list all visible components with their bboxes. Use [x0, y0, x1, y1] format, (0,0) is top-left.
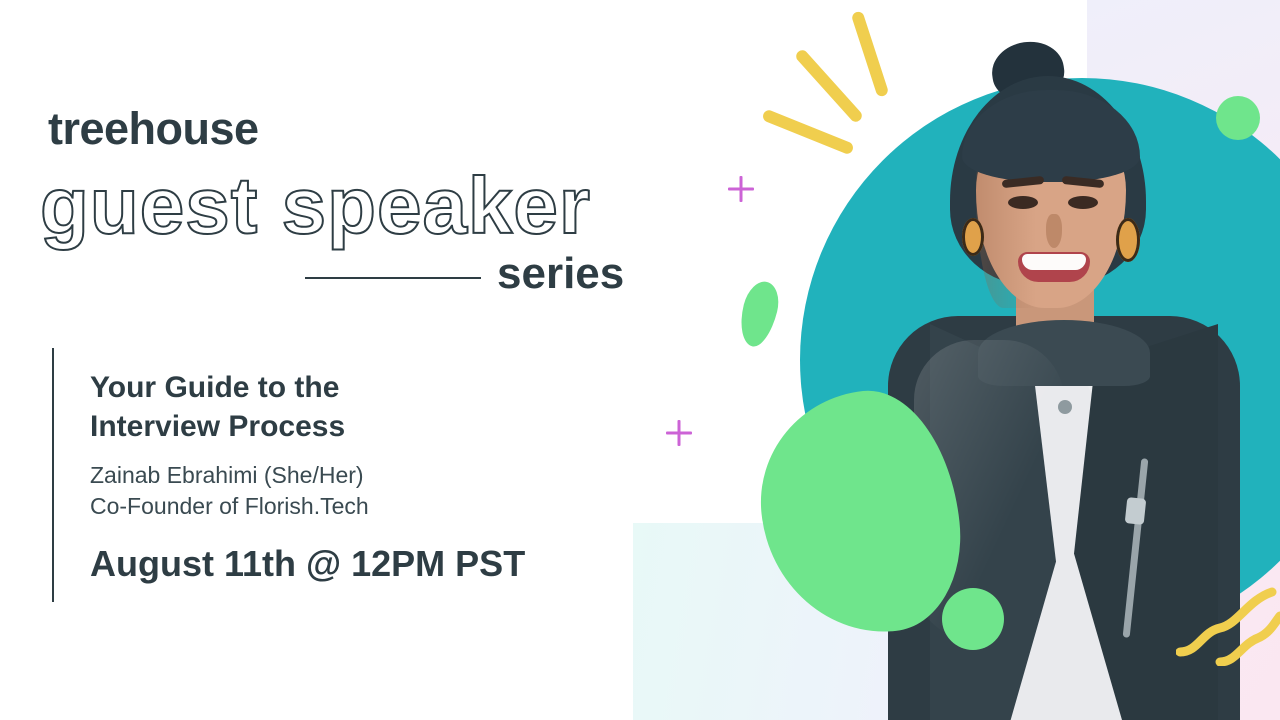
green-bean-blob-icon	[735, 278, 784, 350]
talk-title: Your Guide to the Interview Process	[90, 368, 610, 446]
earring-left	[962, 218, 984, 256]
earring-right	[1116, 218, 1140, 262]
series-divider-rule	[305, 277, 481, 279]
event-datetime: August 11th @ 12PM PST	[90, 544, 610, 584]
speaker-name: Zainab Ebrahimi (She/Her)	[90, 460, 610, 491]
plus-mark-top-icon	[728, 176, 754, 202]
speaker-role: Co-Founder of Florish.Tech	[90, 491, 610, 522]
detail-vertical-rule	[52, 348, 54, 602]
promo-slide: treehouse guest speaker series Your Guid…	[0, 0, 1280, 720]
eye-right	[1068, 196, 1098, 209]
series-word: series	[497, 252, 624, 296]
jacket-snap-button	[1058, 400, 1072, 414]
green-dot-bottom-icon	[942, 588, 1004, 650]
nose-shape	[1046, 214, 1062, 248]
teeth-shape	[1022, 254, 1086, 270]
plus-mark-middle-icon	[666, 420, 692, 446]
jacket-zipper-pull	[1125, 497, 1147, 525]
wave-stroke-icon	[1176, 578, 1280, 666]
session-details: Your Guide to the Interview Process Zain…	[90, 368, 610, 584]
brand-wordmark: treehouse	[48, 106, 259, 151]
series-headline-outline: guest speaker	[40, 166, 591, 246]
green-dot-top-icon	[1216, 96, 1260, 140]
eye-left	[1008, 196, 1038, 209]
